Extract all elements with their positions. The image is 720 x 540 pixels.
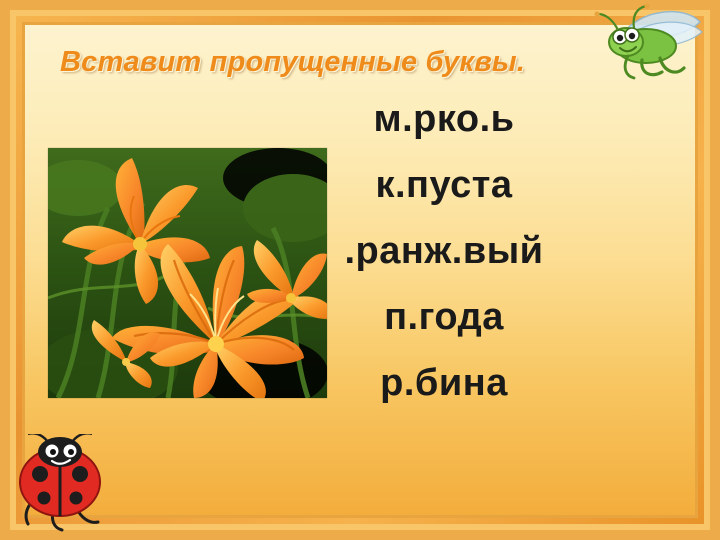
grasshopper-icon <box>590 2 710 106</box>
ladybug-icon <box>14 434 134 538</box>
page-title: Вставит пропущенные буквы. <box>60 46 600 79</box>
word-item: п.года <box>234 298 654 336</box>
slide-canvas: Вставит пропущенные буквы. <box>0 0 720 540</box>
word-item: к.пуста <box>234 166 654 204</box>
word-item: .ранж.вый <box>234 232 654 270</box>
word-list: м.рко.ь к.пуста .ранж.вый п.года р.бина <box>234 100 654 402</box>
word-item: р.бина <box>234 364 654 402</box>
